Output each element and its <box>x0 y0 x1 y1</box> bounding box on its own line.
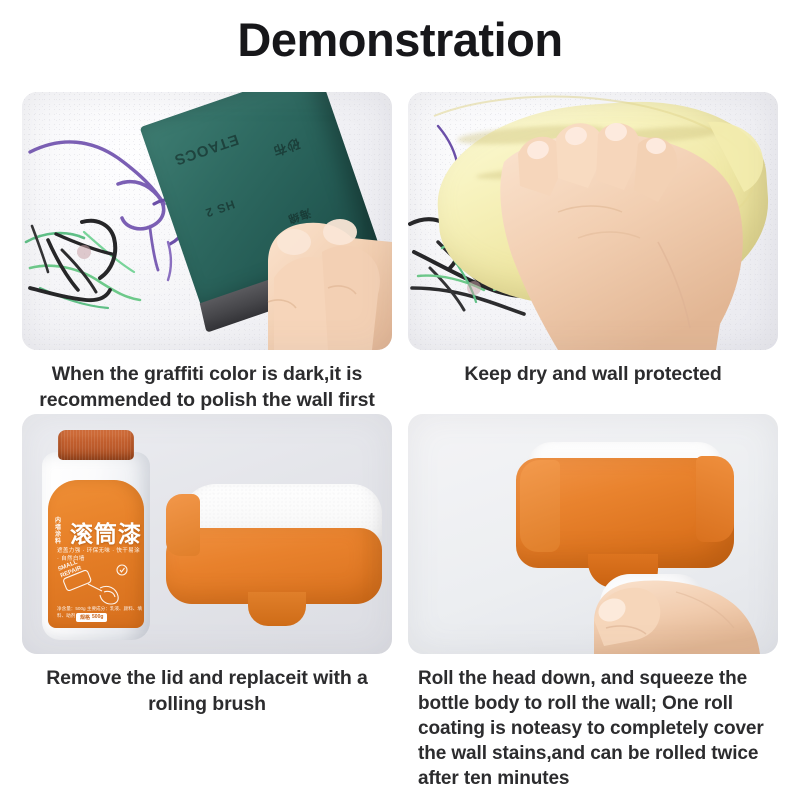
bottle-label: 内墙涂料 滚筒漆 遮盖力强 · 环保无味 · 快干易涂 · 自然白墙 <box>48 480 144 628</box>
caption-keep-dry: Keep dry and wall protected <box>408 350 778 388</box>
label-side-text: 内墙涂料 <box>55 518 66 546</box>
hand-wiping <box>408 92 778 350</box>
label-title: 滚筒漆 <box>70 515 142 549</box>
photo-roll-the-wall <box>408 414 778 654</box>
panel-replace-lid: 内墙涂料 滚筒漆 遮盖力强 · 环保无味 · 快干易涂 · 自然白墙 <box>22 414 392 791</box>
photo-replace-lid: 内墙涂料 滚筒漆 遮盖力强 · 环保无味 · 快干易涂 · 自然白墙 <box>22 414 392 654</box>
panel-polish-wall: ETAOCS HS 2 砂布 海绵 <box>22 92 392 414</box>
photo-keep-dry <box>408 92 778 350</box>
caption-polish-wall: When the graffiti color is dark,it is re… <box>22 350 392 414</box>
label-spec-badge: 规格 500g <box>76 613 107 622</box>
hand-squeezing-bottle <box>408 414 778 654</box>
panel-keep-dry: Keep dry and wall protected <box>408 92 778 414</box>
caption-roll-the-wall: Roll the head down, and squeeze the bott… <box>408 654 778 791</box>
page-title: Demonstration <box>0 14 800 66</box>
roller-brush-head <box>162 484 382 634</box>
label-illustration: SMALL REPAIR <box>58 558 136 606</box>
paint-bottle: 内墙涂料 滚筒漆 遮盖力强 · 环保无味 · 快干易涂 · 自然白墙 <box>42 430 150 640</box>
panel-roll-the-wall: Roll the head down, and squeeze the bott… <box>408 414 778 791</box>
demonstration-grid: ETAOCS HS 2 砂布 海绵 <box>22 92 778 791</box>
hand-holding-sponge <box>22 92 392 350</box>
roller-connector-stem <box>248 592 306 626</box>
badge-label: 规格 <box>80 614 90 621</box>
bottle-cap <box>58 430 134 460</box>
badge-weight: 500g <box>92 614 103 620</box>
caption-replace-lid: Remove the lid and replaceit with a roll… <box>22 654 392 718</box>
roller-arm-left <box>166 494 200 556</box>
demonstration-page: Demonstration <box>0 0 800 800</box>
photo-polish-wall: ETAOCS HS 2 砂布 海绵 <box>22 92 392 350</box>
